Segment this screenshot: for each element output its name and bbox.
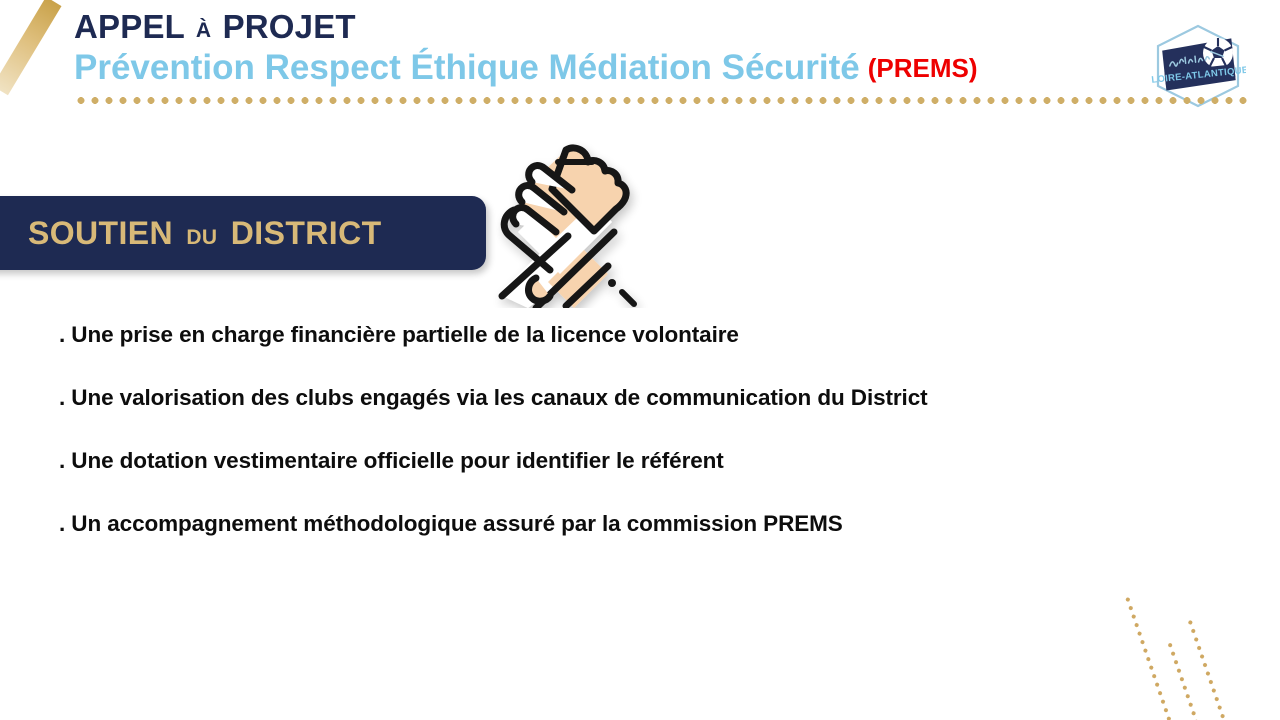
title-word-appel: APPEL xyxy=(74,8,184,45)
subtitle-text: Prévention Respect Éthique Médiation Séc… xyxy=(74,48,860,87)
list-item: . Une valorisation des clubs engagés via… xyxy=(59,385,1239,411)
bullet-list: . Une prise en charge financière partiel… xyxy=(59,322,1239,574)
section-banner-soutien-du-district: SOUTIEN DU DISTRICT xyxy=(0,196,486,270)
slide-header: APPEL À PROJET Prévention Respect Éthiqu… xyxy=(0,0,1280,116)
page-title: APPEL À PROJET xyxy=(74,8,356,46)
banner-word-soutien: SOUTIEN xyxy=(28,215,173,251)
list-item: . Un accompagnement méthodologique assur… xyxy=(59,511,1239,537)
section-banner-label: SOUTIEN DU DISTRICT xyxy=(28,215,382,252)
handshake-grip-icon xyxy=(462,136,648,308)
banner-word-district: DISTRICT xyxy=(231,215,382,251)
list-item: . Une prise en charge financière partiel… xyxy=(59,322,1239,348)
dotted-diagonal-decoration xyxy=(1167,640,1200,720)
banner-word-du: DU xyxy=(182,226,221,249)
acronym-prems: (PREMS) xyxy=(860,53,978,83)
dotted-diagonal-decoration xyxy=(1124,595,1171,720)
dotted-diagonal-decoration xyxy=(1187,618,1228,720)
page-subtitle: Prévention Respect Éthique Médiation Séc… xyxy=(74,48,978,88)
list-item: . Une dotation vestimentaire officielle … xyxy=(59,448,1239,474)
header-dotted-rule xyxy=(74,97,1252,104)
title-word-a: À xyxy=(194,19,213,42)
slide-canvas: APPEL À PROJET Prévention Respect Éthiqu… xyxy=(0,0,1280,720)
title-word-projet: PROJET xyxy=(223,8,356,45)
